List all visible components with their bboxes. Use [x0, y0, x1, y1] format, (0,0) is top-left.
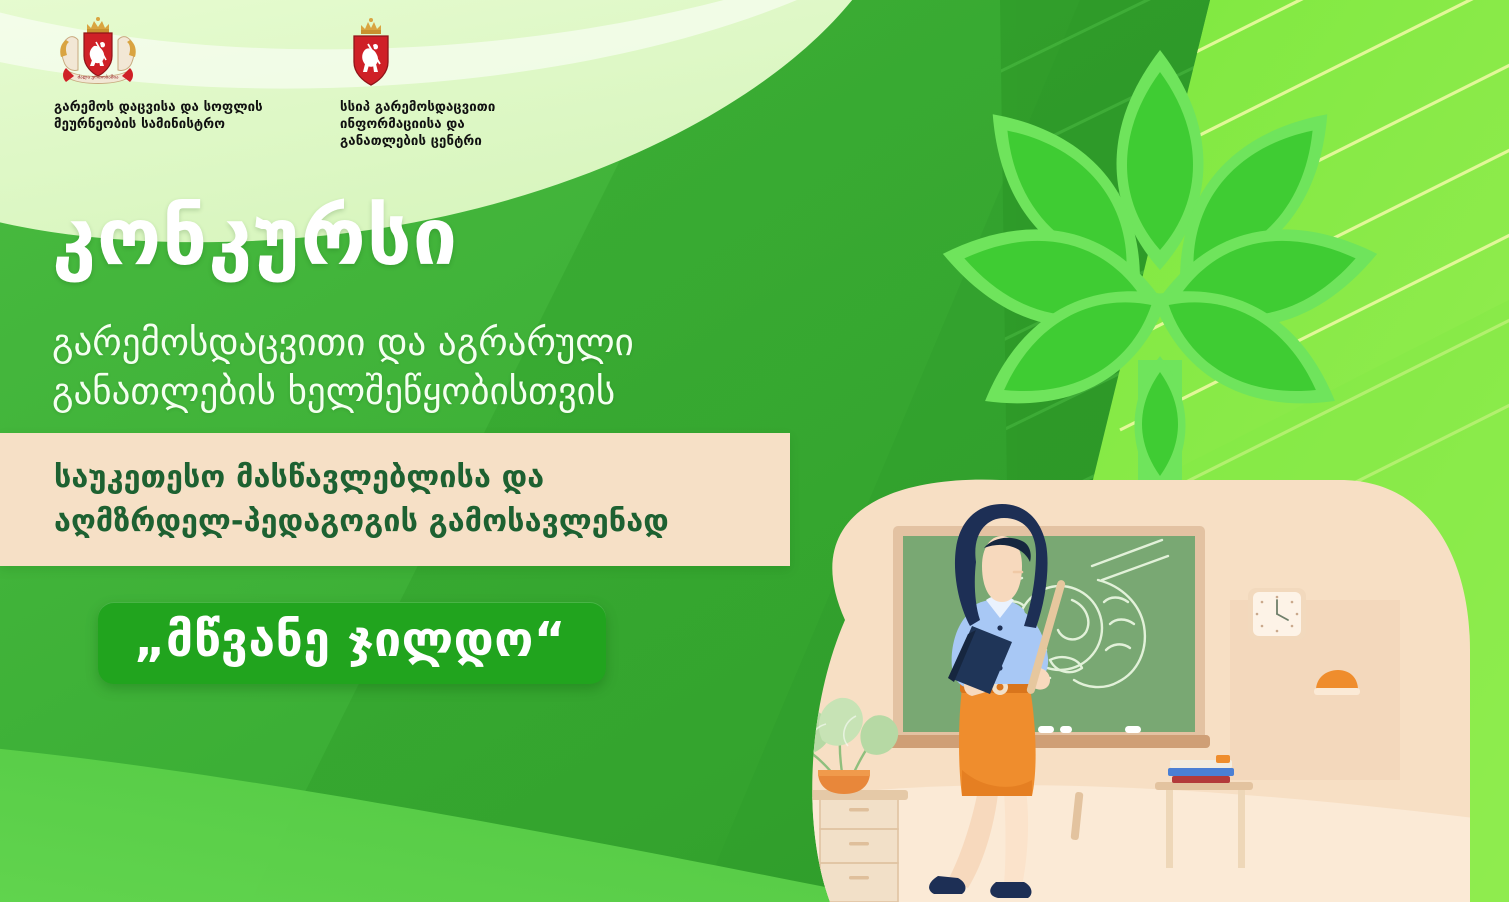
- poster-canvas: ძალა ერთობაშია გარემოს დაცვისა და სოფლის…: [0, 0, 1509, 902]
- highlight-band: საუკეთესო მასწავლებლისა და აღმზრდელ-პედა…: [0, 433, 790, 566]
- highlight-band-text: საუკეთესო მასწავლებლისა და აღმზრდელ-პედა…: [0, 456, 689, 543]
- wall-clock-icon: [1248, 588, 1306, 640]
- main-content: კონკურსი გარემოსდაცვითი და აგრარული განა…: [0, 0, 860, 902]
- page-subtitle: გარემოსდაცვითი და აგრარული განათლების ხე…: [52, 318, 772, 416]
- award-name-badge: „მწვანე ჯილდო“: [98, 602, 606, 684]
- page-title: კონკურსი: [52, 198, 458, 277]
